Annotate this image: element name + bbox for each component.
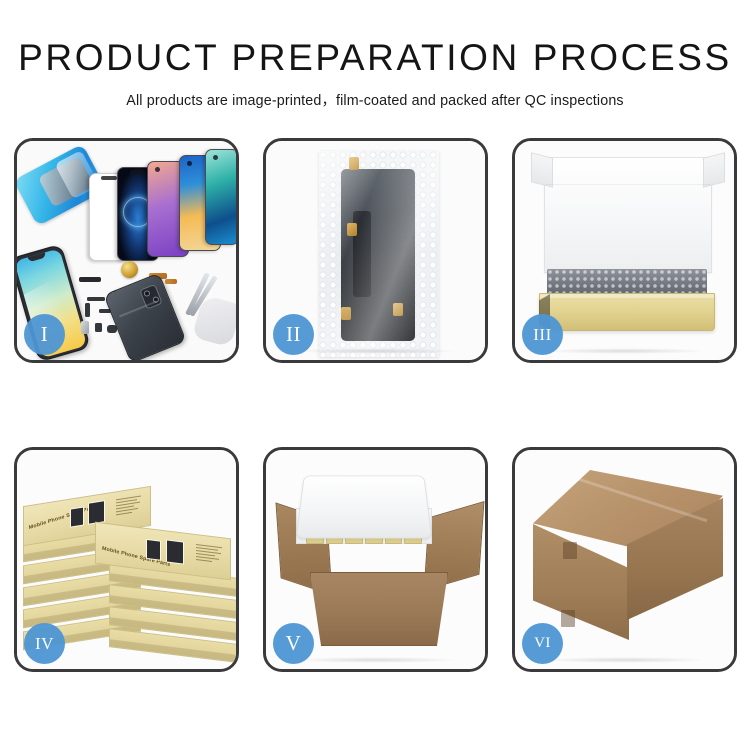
product-preparation-page: PRODUCT PREPARATION PROCESS All products… — [0, 0, 750, 750]
process-step-panel-4[interactable]: Mobile Phone Spare Parts Mobile Phone Sp… — [14, 447, 239, 672]
step-numeral-badge-6: VI — [522, 623, 563, 664]
process-step-panel-2[interactable]: II — [263, 138, 488, 363]
page-subtitle: All products are image-printed，film-coat… — [0, 89, 750, 110]
white-box-lid-icon — [544, 157, 712, 273]
step-numeral-badge-2: II — [273, 314, 314, 355]
process-step-panel-6[interactable]: VI — [512, 447, 737, 672]
step-numeral-badge-4: IV — [24, 623, 65, 664]
foam-lid-icon — [296, 475, 433, 538]
phone-screen-lineup-icon — [89, 149, 236, 267]
bubble-wrap-bag-icon — [319, 151, 439, 357]
step-numeral-badge-3: III — [522, 314, 563, 355]
process-step-grid: I II — [14, 138, 736, 672]
sealed-carton-icon — [533, 470, 723, 650]
step-numeral-badge-5: V — [273, 623, 314, 664]
yellow-inner-box-icon — [539, 293, 715, 331]
process-step-panel-3[interactable]: III — [512, 138, 737, 363]
process-step-panel-5[interactable]: V — [263, 447, 488, 672]
page-title: PRODUCT PREPARATION PROCESS — [0, 38, 750, 78]
step-numeral-badge-1: I — [24, 314, 65, 355]
page-header: PRODUCT PREPARATION PROCESS All products… — [0, 38, 750, 110]
process-step-panel-1[interactable]: I — [14, 138, 239, 363]
